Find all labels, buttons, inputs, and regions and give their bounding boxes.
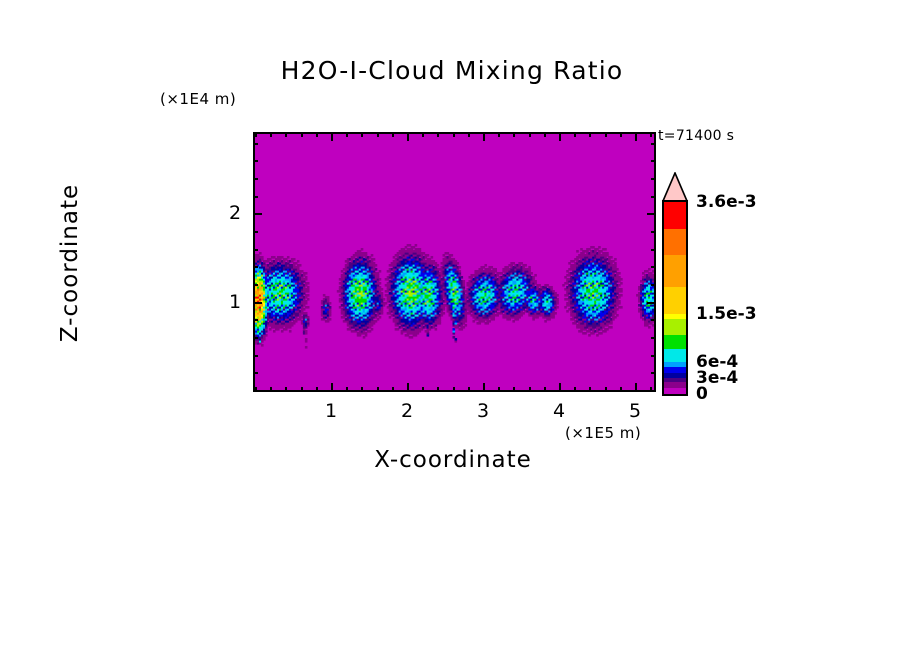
- axis-tick: [346, 387, 348, 392]
- axis-tick: [635, 383, 637, 392]
- axis-tick: [620, 387, 622, 392]
- axis-tick: [253, 160, 258, 162]
- x-axis-unit-label: (×1E5 m): [565, 424, 641, 442]
- axis-tick: [301, 387, 303, 392]
- colorbar-tick-label: 3.6e-3: [696, 192, 757, 212]
- y-axis-unit-label: (×1E4 m): [160, 90, 236, 108]
- colorbar-tick-label: 0: [696, 384, 708, 404]
- axis-tick: [544, 387, 546, 392]
- axis-tick: [650, 132, 652, 137]
- axis-tick: [589, 132, 591, 137]
- axis-tick: [253, 372, 258, 374]
- colorbar-band: [664, 287, 686, 314]
- colorbar-extend-arrow-icon: [662, 172, 688, 202]
- colorbar: 3.6e-31.5e-36e-43e-40: [662, 168, 782, 400]
- axis-tick: [361, 132, 363, 137]
- axis-tick: [574, 132, 576, 137]
- axis-tick: [255, 387, 257, 392]
- y-axis-title: Z-coordinate: [57, 133, 83, 393]
- axis-tick: [647, 213, 656, 215]
- axis-tick: [270, 387, 272, 392]
- axis-tick: [559, 383, 561, 392]
- axis-tick: [529, 132, 531, 137]
- axis-tick: [651, 355, 656, 357]
- colorbar-band: [664, 202, 686, 229]
- axis-tick: [651, 143, 656, 145]
- axis-tick: [651, 319, 656, 321]
- axis-tick: [253, 302, 262, 304]
- axis-tick: [253, 355, 258, 357]
- y-axis-tick-label: 2: [229, 202, 241, 224]
- colorbar-band: [664, 229, 686, 256]
- axis-tick: [253, 266, 258, 268]
- axis-tick: [331, 383, 333, 392]
- axis-tick: [605, 387, 607, 392]
- colorbar-band: [664, 319, 686, 335]
- axis-tick: [392, 387, 394, 392]
- axis-tick: [651, 266, 656, 268]
- axis-tick: [253, 196, 258, 198]
- x-axis-tick-label: 1: [325, 400, 337, 422]
- axis-tick: [253, 143, 258, 145]
- axis-tick: [483, 383, 485, 392]
- axis-tick: [253, 178, 258, 180]
- axis-tick: [331, 132, 333, 141]
- axis-tick: [513, 132, 515, 137]
- axis-tick: [468, 387, 470, 392]
- x-axis-tick-label: 3: [477, 400, 489, 422]
- contour-canvas: [255, 134, 654, 390]
- axis-tick: [422, 387, 424, 392]
- axis-tick: [285, 132, 287, 137]
- axis-tick: [301, 132, 303, 137]
- axis-tick: [651, 160, 656, 162]
- axis-tick: [620, 132, 622, 137]
- axis-tick: [407, 383, 409, 392]
- colorbar-band: [664, 382, 686, 387]
- axis-tick: [453, 387, 455, 392]
- axis-tick: [651, 231, 656, 233]
- axis-tick: [361, 387, 363, 392]
- contour-field: [255, 134, 654, 390]
- colorbar-tick-label: 1.5e-3: [696, 304, 757, 324]
- axis-tick: [253, 213, 262, 215]
- contour-plot-area: 1234512: [253, 132, 656, 392]
- colorbar-band: [664, 367, 686, 372]
- axis-tick: [422, 132, 424, 137]
- colorbar-band: [664, 349, 686, 362]
- axis-tick: [650, 387, 652, 392]
- axis-tick: [316, 132, 318, 137]
- axis-tick: [253, 319, 258, 321]
- axis-tick: [589, 387, 591, 392]
- colorbar-band: [664, 335, 686, 348]
- colorbar-band: [664, 314, 686, 319]
- axis-tick: [392, 132, 394, 137]
- axis-tick: [605, 132, 607, 137]
- axis-tick: [377, 387, 379, 392]
- axis-tick: [377, 132, 379, 137]
- colorbar-band: [664, 362, 686, 367]
- axis-tick: [651, 337, 656, 339]
- axis-tick: [253, 337, 258, 339]
- x-axis-tick-label: 5: [629, 400, 641, 422]
- colorbar-band: [664, 373, 686, 378]
- axis-tick: [635, 132, 637, 141]
- figure-title: H2O-I-Cloud Mixing Ratio: [0, 56, 904, 85]
- y-axis-tick-label: 1: [229, 291, 241, 313]
- axis-tick: [498, 132, 500, 137]
- axis-tick: [468, 132, 470, 137]
- axis-tick: [255, 132, 257, 137]
- x-axis-tick-label: 4: [553, 400, 565, 422]
- axis-tick: [498, 387, 500, 392]
- axis-tick: [285, 387, 287, 392]
- axis-tick: [651, 372, 656, 374]
- axis-tick: [437, 387, 439, 392]
- colorbar-band: [664, 378, 686, 382]
- axis-tick: [270, 132, 272, 137]
- axis-tick: [407, 132, 409, 141]
- axis-tick: [651, 178, 656, 180]
- axis-tick: [574, 387, 576, 392]
- axis-tick: [529, 387, 531, 392]
- axis-tick: [253, 284, 258, 286]
- axis-tick: [483, 132, 485, 141]
- axis-tick: [647, 302, 656, 304]
- axis-tick: [651, 196, 656, 198]
- colorbar-band: [664, 388, 686, 394]
- axis-tick: [253, 231, 258, 233]
- time-annotation: t=71400 s: [658, 128, 734, 144]
- axis-tick: [651, 249, 656, 251]
- axis-tick: [437, 132, 439, 137]
- x-axis-title: X-coordinate: [253, 447, 653, 473]
- axis-tick: [513, 387, 515, 392]
- axis-tick: [544, 132, 546, 137]
- axis-tick: [346, 132, 348, 137]
- colorbar-gradient: [662, 200, 688, 396]
- axis-tick: [559, 132, 561, 141]
- axis-tick: [651, 284, 656, 286]
- axis-tick: [453, 132, 455, 137]
- x-axis-tick-label: 2: [401, 400, 413, 422]
- axis-tick: [316, 387, 318, 392]
- colorbar-band: [664, 255, 686, 287]
- axis-tick: [253, 249, 258, 251]
